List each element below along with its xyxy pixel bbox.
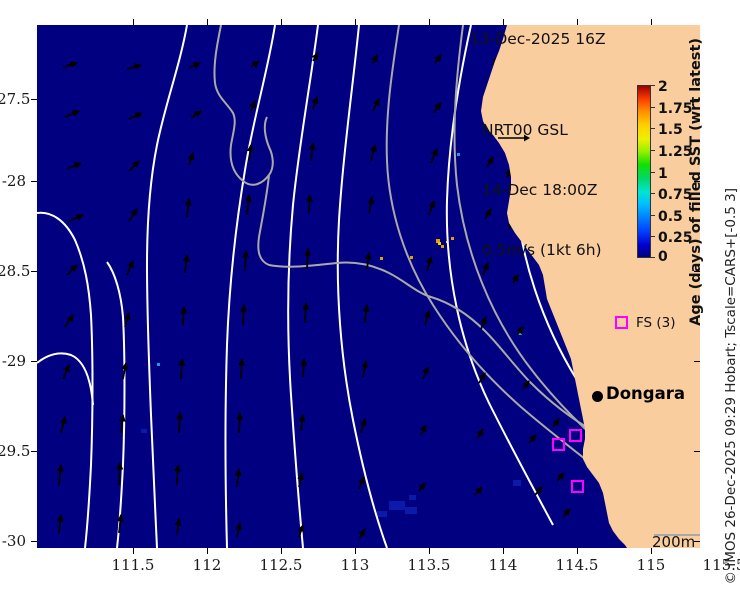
- x-tick-top: [207, 19, 208, 25]
- x-tick-top: [281, 19, 282, 25]
- x-tick-label: 113: [341, 556, 370, 574]
- colorbar-label: 0: [658, 249, 668, 265]
- colorbar-label: 2: [658, 79, 668, 95]
- velocity-scale-label: 0.5m/s (1kt 6h): [482, 240, 602, 260]
- y-tick: [31, 451, 37, 452]
- fs-legend-label: FS (3): [636, 315, 676, 331]
- colorbar-tick: [651, 257, 655, 258]
- y-tick-right: [694, 451, 700, 452]
- city-label-dongara: Dongara: [606, 384, 685, 403]
- y-tick-right: [694, 361, 700, 362]
- y-tick: [31, 181, 37, 182]
- x-tick-top: [133, 19, 134, 25]
- depth-legend-rule: [654, 534, 700, 536]
- city-marker-dongara[interactable]: [592, 391, 603, 402]
- map-plot-area[interactable]: 13-Dec-2025 16Z NRT00 GSL 14-Dec 18:00Z …: [37, 25, 700, 548]
- model-info-block: NRT00 GSL 14-Dec 18:00Z 0.5m/s (1kt 6h): [482, 80, 602, 300]
- x-tick-label: 114: [489, 556, 518, 574]
- x-tick: [503, 548, 504, 554]
- y-tick: [31, 541, 37, 542]
- colorbar-label: 0.5: [658, 209, 683, 225]
- x-tick-top: [429, 19, 430, 25]
- y-tick: [31, 271, 37, 272]
- x-tick: [429, 548, 430, 554]
- y-tick: [31, 99, 37, 100]
- colorbar-gradient: [637, 85, 651, 258]
- x-tick-top: [651, 19, 652, 25]
- x-tick: [577, 548, 578, 554]
- x-tick: [651, 548, 652, 554]
- timestamp-label: 13-Dec-2025 16Z: [470, 30, 606, 48]
- x-tick: [355, 548, 356, 554]
- colorbar-label: 1.5: [658, 122, 683, 138]
- x-tick-label: 114.5: [556, 556, 599, 574]
- x-tick: [133, 548, 134, 554]
- y-tick: [31, 361, 37, 362]
- y-tick-label: -30: [0, 532, 26, 550]
- colorbar-tick: [651, 107, 655, 108]
- x-tick-label: 111.5: [112, 556, 155, 574]
- model-valid-time: 14-Dec 18:00Z: [482, 180, 602, 200]
- fs-marker-3[interactable]: [571, 480, 584, 493]
- x-tick-label: 112: [193, 556, 222, 574]
- x-tick: [207, 548, 208, 554]
- x-tick-top: [577, 19, 578, 25]
- fs-marker-2[interactable]: [569, 429, 582, 442]
- x-tick-label: 115: [637, 556, 666, 574]
- x-tick-label: 113.5: [408, 556, 451, 574]
- y-tick-right: [694, 541, 700, 542]
- x-tick-label: 112.5: [260, 556, 303, 574]
- y-tick-label: -29: [0, 352, 26, 370]
- x-tick-top: [503, 19, 504, 25]
- velocity-scale-arrow-icon: [497, 133, 531, 143]
- colorbar-label: 1: [658, 166, 668, 182]
- fs-marker-1[interactable]: [552, 438, 565, 451]
- x-tick: [281, 548, 282, 554]
- colorbar-tick: [651, 215, 655, 216]
- colorbar-tick: [651, 85, 655, 86]
- y-tick-label: -28: [0, 172, 26, 190]
- fs-legend-swatch-icon: [615, 316, 628, 329]
- credit-text: © IMOS 26-Dec-2025 09:29 Hobart; Tscale=…: [723, 188, 739, 585]
- colorbar-tick: [651, 150, 655, 151]
- colorbar-title: Age (days) of filled SST (wrt latest): [688, 38, 704, 326]
- colorbar-tick: [651, 193, 655, 194]
- depth-contour-legend: 200m 1000m: [652, 497, 700, 548]
- colorbar-tick: [651, 172, 655, 173]
- y-tick-label: -29.5: [0, 442, 26, 460]
- y-tick-label: -27.5: [0, 90, 26, 108]
- colorbar-tick: [651, 236, 655, 237]
- y-tick-label: -28.5: [0, 262, 26, 280]
- x-tick-top: [355, 19, 356, 25]
- colorbar-tick: [651, 128, 655, 129]
